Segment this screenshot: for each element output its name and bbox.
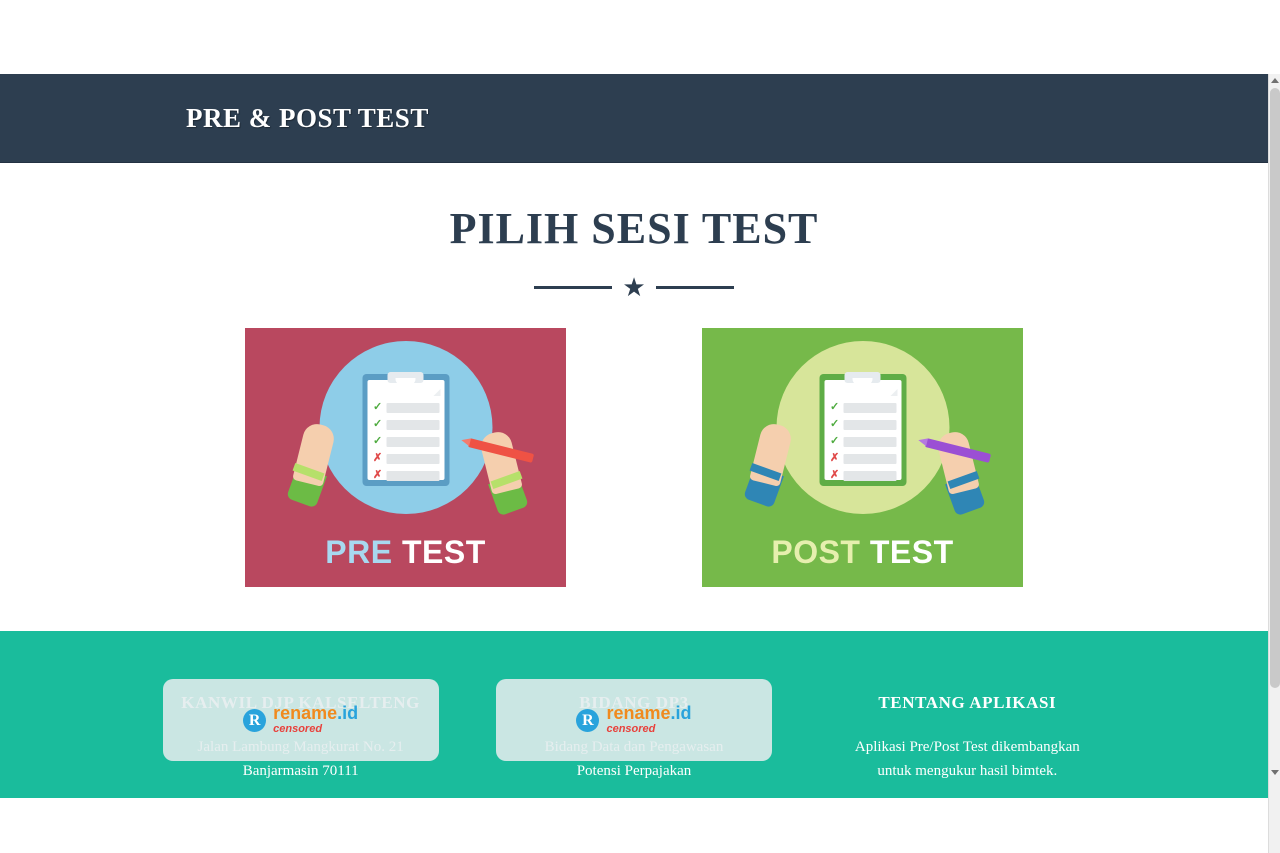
divider-line-left <box>534 286 612 289</box>
footer-text-bidang-line1: Bidang Data dan Pengawasan <box>479 735 788 759</box>
checklist-row: ✓ <box>373 401 439 414</box>
paper-fold <box>433 389 440 396</box>
clipboard-clip <box>388 372 424 383</box>
clipboard-clip <box>845 372 881 383</box>
post-test-label-part1: POST <box>771 534 860 570</box>
footer-text-tentang-line1: Aplikasi Pre/Post Test dikembangkan <box>813 735 1122 759</box>
footer-columns: KANWIL DJP KALSELTENG Jalan Lambung Mang… <box>134 693 1134 798</box>
rename-logo-sub: censored <box>273 724 358 736</box>
footer-column-tentang: TENTANG APLIKASI Aplikasi Pre/Post Test … <box>801 693 1134 798</box>
paper-fold <box>890 389 897 396</box>
clipboard-paper: ✓ ✓ ✓ <box>824 380 901 480</box>
footer-text-bidang-line2: Potensi Perpajakan <box>479 759 788 783</box>
checklist-bar <box>843 437 896 447</box>
check-icon: ✓ <box>830 402 843 413</box>
star-icon: ★ <box>622 274 645 300</box>
checklist-row: ✗ <box>373 469 439 482</box>
checklist-row: ✓ <box>830 401 896 414</box>
title-divider: ★ <box>534 272 734 302</box>
checklist-row: ✓ <box>830 435 896 448</box>
checklist-bar <box>386 454 439 464</box>
checklist-bar <box>386 420 439 430</box>
checklist-row: ✗ <box>373 452 439 465</box>
browser-viewport: PRE & POST TEST PILIH SESI TEST ★ <box>0 0 1280 853</box>
checklist-bar <box>386 437 439 447</box>
checklist-row: ✓ <box>373 418 439 431</box>
checklist-bar <box>386 403 439 413</box>
check-icon: ✓ <box>373 436 386 447</box>
clipboard-paper: ✓ ✓ ✓ <box>367 380 444 480</box>
checklist-rows: ✓ ✓ ✓ <box>373 401 439 486</box>
footer-text-kanwil-line1: Jalan Lambung Mangkurat No. 21 <box>146 735 455 759</box>
triangle-up-icon[interactable] <box>1269 74 1280 87</box>
rename-logo-sub: censored <box>606 724 691 736</box>
check-icon: ✓ <box>830 419 843 430</box>
triangle-down-icon[interactable] <box>1269 766 1280 779</box>
checklist-row: ✓ <box>830 418 896 431</box>
checklist-bar <box>843 403 896 413</box>
pre-test-label-part1: PRE <box>325 534 392 570</box>
footer-column-bidang: BIDANG DP3 Bidang Data dan Pengawasan Po… <box>467 693 800 798</box>
clipboard-checklist-icon: ✓ ✓ ✓ <box>362 374 449 486</box>
scrollbar-thumb[interactable] <box>1270 88 1280 688</box>
post-test-label-part2: TEST <box>870 534 954 570</box>
pre-test-label: PRE TEST <box>245 534 566 571</box>
vertical-scrollbar[interactable] <box>1268 74 1280 853</box>
pre-test-card[interactable]: ✓ ✓ ✓ <box>245 328 566 587</box>
cross-icon: ✗ <box>830 453 843 464</box>
site-footer: KANWIL DJP KALSELTENG Jalan Lambung Mang… <box>0 631 1268 798</box>
cross-icon: ✗ <box>373 453 386 464</box>
footer-title-tentang: TENTANG APLIKASI <box>813 693 1122 713</box>
checklist-row: ✗ <box>830 469 896 482</box>
checklist-bar <box>386 471 439 481</box>
top-navbar: PRE & POST TEST <box>0 74 1268 163</box>
checklist-bar <box>843 420 896 430</box>
page-title: PILIH SESI TEST <box>0 203 1268 254</box>
post-test-label: POST TEST <box>702 534 1023 571</box>
checklist-row: ✓ <box>373 435 439 448</box>
clipboard-checklist-icon: ✓ ✓ ✓ <box>819 374 906 486</box>
check-icon: ✓ <box>373 402 386 413</box>
footer-title-kanwil: KANWIL DJP KALSELTENG <box>146 693 455 713</box>
checklist-bar <box>843 454 896 464</box>
post-test-card[interactable]: ✓ ✓ ✓ <box>702 328 1023 587</box>
footer-title-bidang: BIDANG DP3 <box>479 693 788 713</box>
divider-line-right <box>656 286 734 289</box>
checklist-bar <box>843 471 896 481</box>
checklist-rows: ✓ ✓ ✓ <box>830 401 896 486</box>
main-content: PILIH SESI TEST ★ <box>0 163 1268 631</box>
check-icon: ✓ <box>373 419 386 430</box>
navbar-brand[interactable]: PRE & POST TEST <box>186 103 429 134</box>
test-session-cards: ✓ ✓ ✓ <box>0 328 1268 587</box>
footer-text-kanwil-line2: Banjarmasin 70111 <box>146 759 455 783</box>
check-icon: ✓ <box>830 436 843 447</box>
footer-column-kanwil: KANWIL DJP KALSELTENG Jalan Lambung Mang… <box>134 693 467 798</box>
web-page: PRE & POST TEST PILIH SESI TEST ★ <box>0 74 1268 798</box>
cross-icon: ✗ <box>373 470 386 481</box>
checklist-row: ✗ <box>830 452 896 465</box>
pre-test-label-part2: TEST <box>402 534 486 570</box>
footer-text-tentang-line2: untuk mengukur hasil bimtek. <box>813 759 1122 783</box>
cross-icon: ✗ <box>830 470 843 481</box>
